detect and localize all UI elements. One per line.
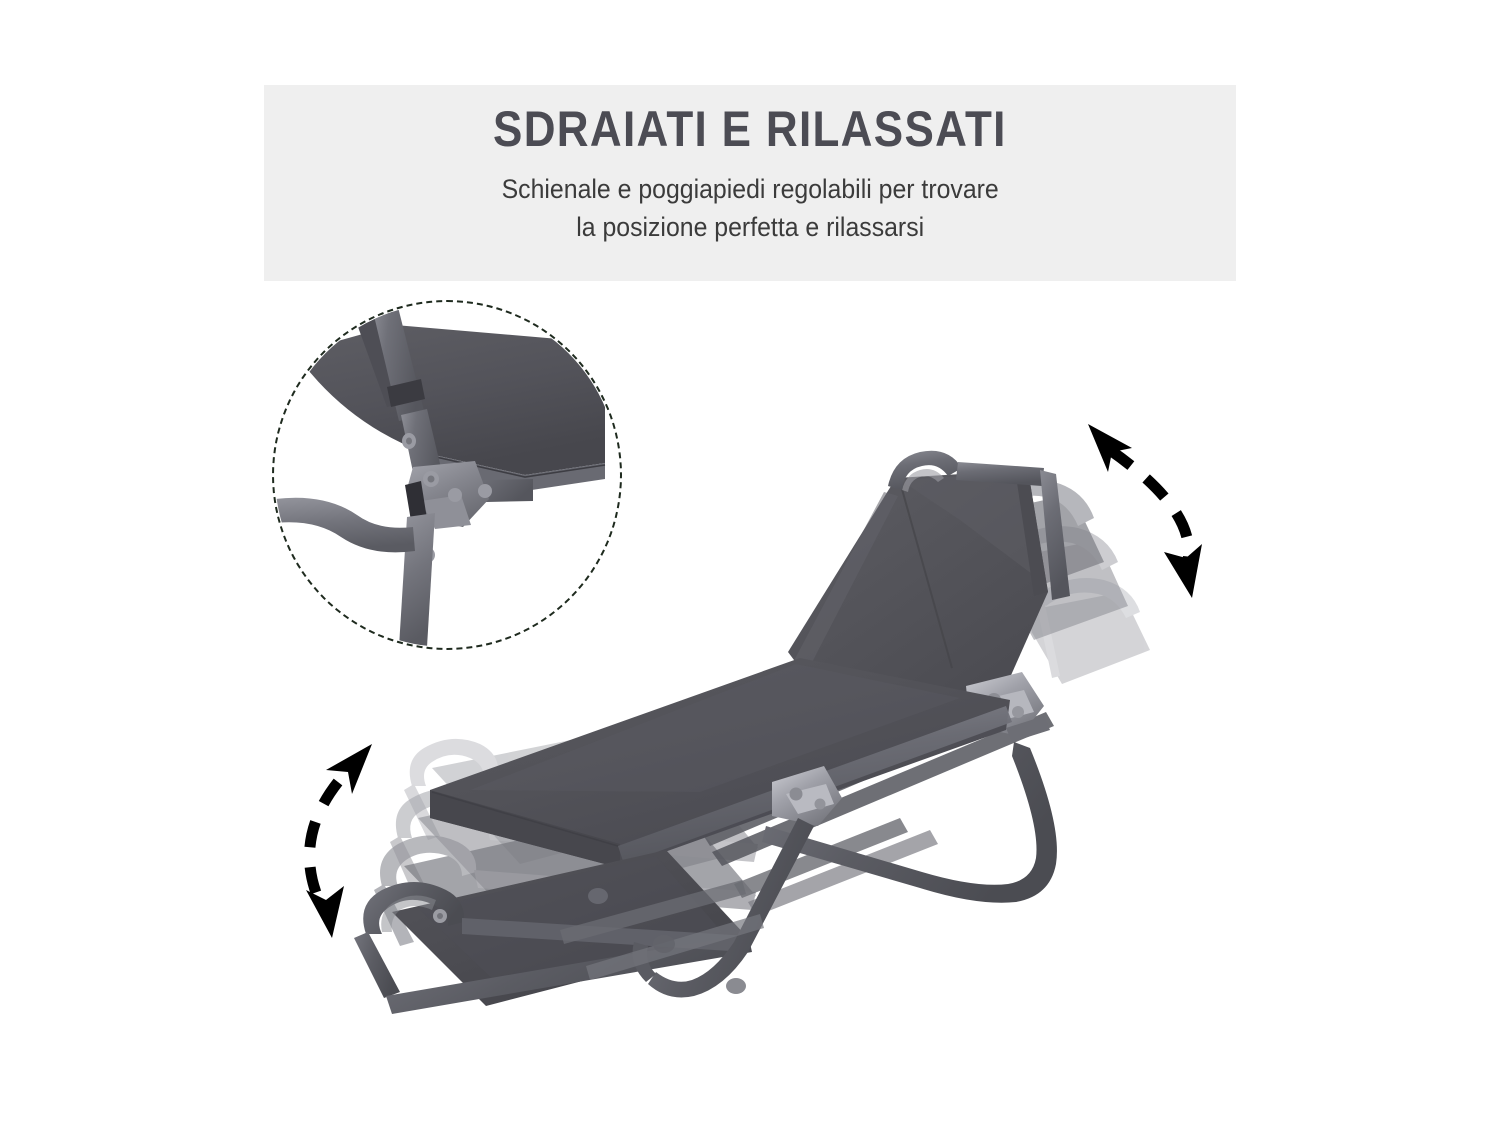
page-subtitle-line-1: Schienale e poggiapiedi regolabili per t…: [501, 170, 998, 208]
front-leg: [633, 818, 815, 998]
backrest-adjust-arrow: [1088, 424, 1202, 598]
recline-hinge-right: [966, 672, 1050, 742]
backrest-left-rail: [790, 492, 898, 674]
backrest-ghost-2: [990, 526, 1128, 640]
backrest-seam: [900, 482, 952, 668]
front-leg-tube: [648, 818, 814, 998]
footrest-ghost-positions: [374, 716, 760, 962]
fold-support-bars: [560, 880, 764, 994]
footrest-rivet: [433, 909, 447, 923]
seat-fabric: [430, 658, 1010, 868]
support-struts: [700, 690, 1054, 916]
footrest-arrow-head-down: [306, 886, 344, 938]
footrest-adjust-arrow: [306, 744, 372, 938]
page-title: SDRAIATI E RILASSATI: [493, 103, 1007, 156]
backrest-right-rail: [1040, 470, 1070, 600]
seat-front-hem: [430, 790, 620, 868]
backrest-ghost-positions: [962, 480, 1150, 684]
footrest-section: [354, 850, 752, 1014]
backrest-section: [788, 451, 1070, 700]
backrest-ghost-1: [962, 480, 1104, 598]
footrest-handle-loop: [363, 882, 464, 934]
page-subtitle: Schienale e poggiapiedi regolabili per t…: [501, 170, 998, 247]
rear-leg: [762, 742, 1057, 903]
footrest-ghost-b: [390, 760, 758, 914]
product-feature-image: SDRAIATI E RILASSATI Schienale e poggiap…: [0, 0, 1500, 1125]
footrest-bottom-rail: [386, 934, 752, 1014]
footrest-ghost-c: [374, 804, 756, 962]
fold-bar-knob: [653, 935, 675, 953]
backrest-fabric: [788, 470, 1048, 700]
footrest-ghost-a: [404, 716, 760, 864]
detail-circle-border: [272, 300, 622, 650]
page-subtitle-line-2: la posizione perfetta e rilassarsi: [501, 208, 998, 246]
backrest-arrow-head-up: [1088, 424, 1132, 472]
backrest-handle-loop: [888, 451, 962, 490]
header-band: SDRAIATI E RILASSATI Schienale e poggiap…: [264, 85, 1236, 281]
rear-leg-tube: [762, 742, 1057, 903]
footrest-arrow-arc: [310, 782, 338, 898]
fold-hinge-center: [772, 766, 842, 826]
seat-right-rail: [618, 706, 1012, 864]
footrest-arrow-head-up: [326, 744, 372, 794]
backrest-arrow-head-down: [1164, 544, 1202, 598]
backrest-arrow-arc: [1110, 450, 1189, 560]
footrest-fabric: [392, 850, 748, 1006]
footrest-end-rail: [354, 932, 400, 998]
backrest-ghost-3: [1020, 578, 1150, 684]
backrest-top-rail: [956, 462, 1044, 486]
hinge-detail-inset: [272, 300, 622, 650]
seat-section: [430, 658, 1012, 868]
